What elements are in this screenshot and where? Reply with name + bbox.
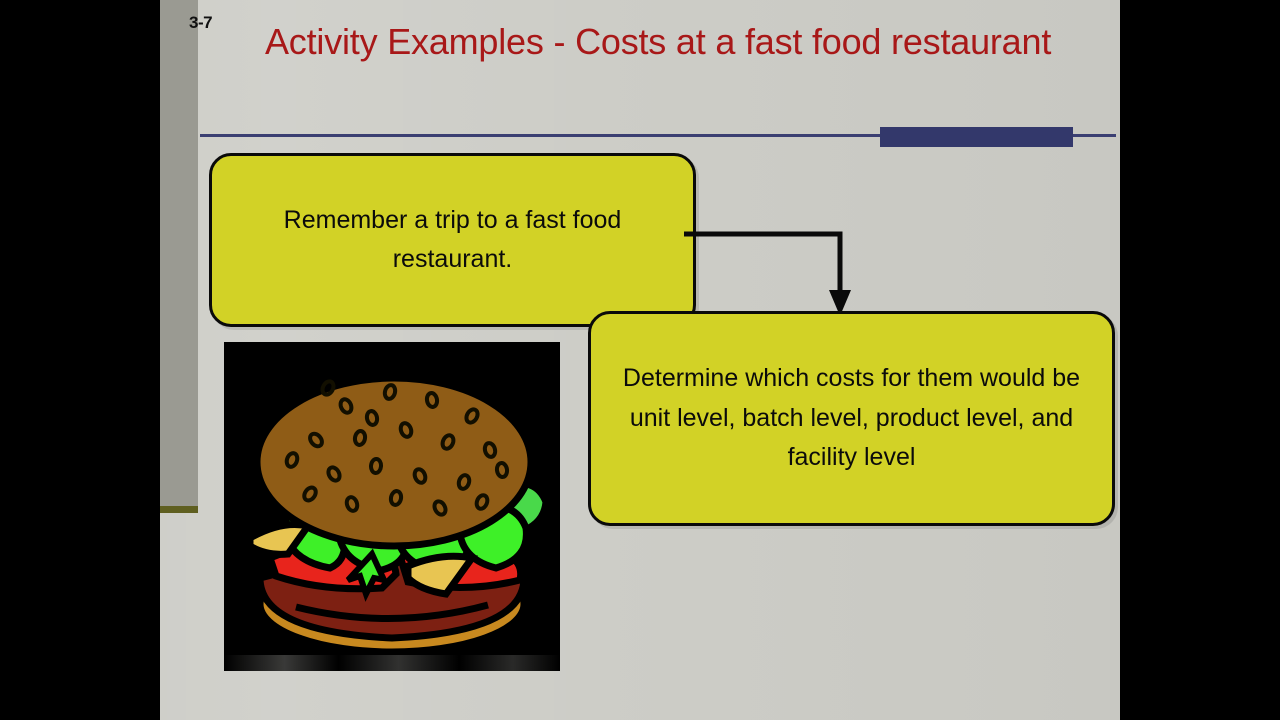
slide-number: 3-7 — [189, 13, 212, 33]
slide-title: Activity Examples - Costs at a fast food… — [265, 18, 1075, 66]
elbow-arrow-icon — [680, 228, 890, 323]
left-accent-band — [160, 0, 198, 512]
screen: 3-7 Activity Examples - Costs at a fast … — [0, 0, 1280, 720]
callout-box-remember-trip-text: Remember a trip to a fast food restauran… — [236, 201, 669, 280]
callout-box-remember-trip: Remember a trip to a fast food restauran… — [209, 153, 696, 327]
hamburger-clipart-image — [224, 342, 560, 671]
hamburger-icon — [224, 342, 560, 671]
title-accent-block — [880, 127, 1073, 147]
left-accent-band-underline — [160, 506, 198, 513]
callout-box-determine-costs: Determine which costs for them would be … — [588, 311, 1115, 526]
presentation-slide: 3-7 Activity Examples - Costs at a fast … — [160, 0, 1120, 720]
callout-box-determine-costs-text: Determine which costs for them would be … — [615, 359, 1088, 478]
